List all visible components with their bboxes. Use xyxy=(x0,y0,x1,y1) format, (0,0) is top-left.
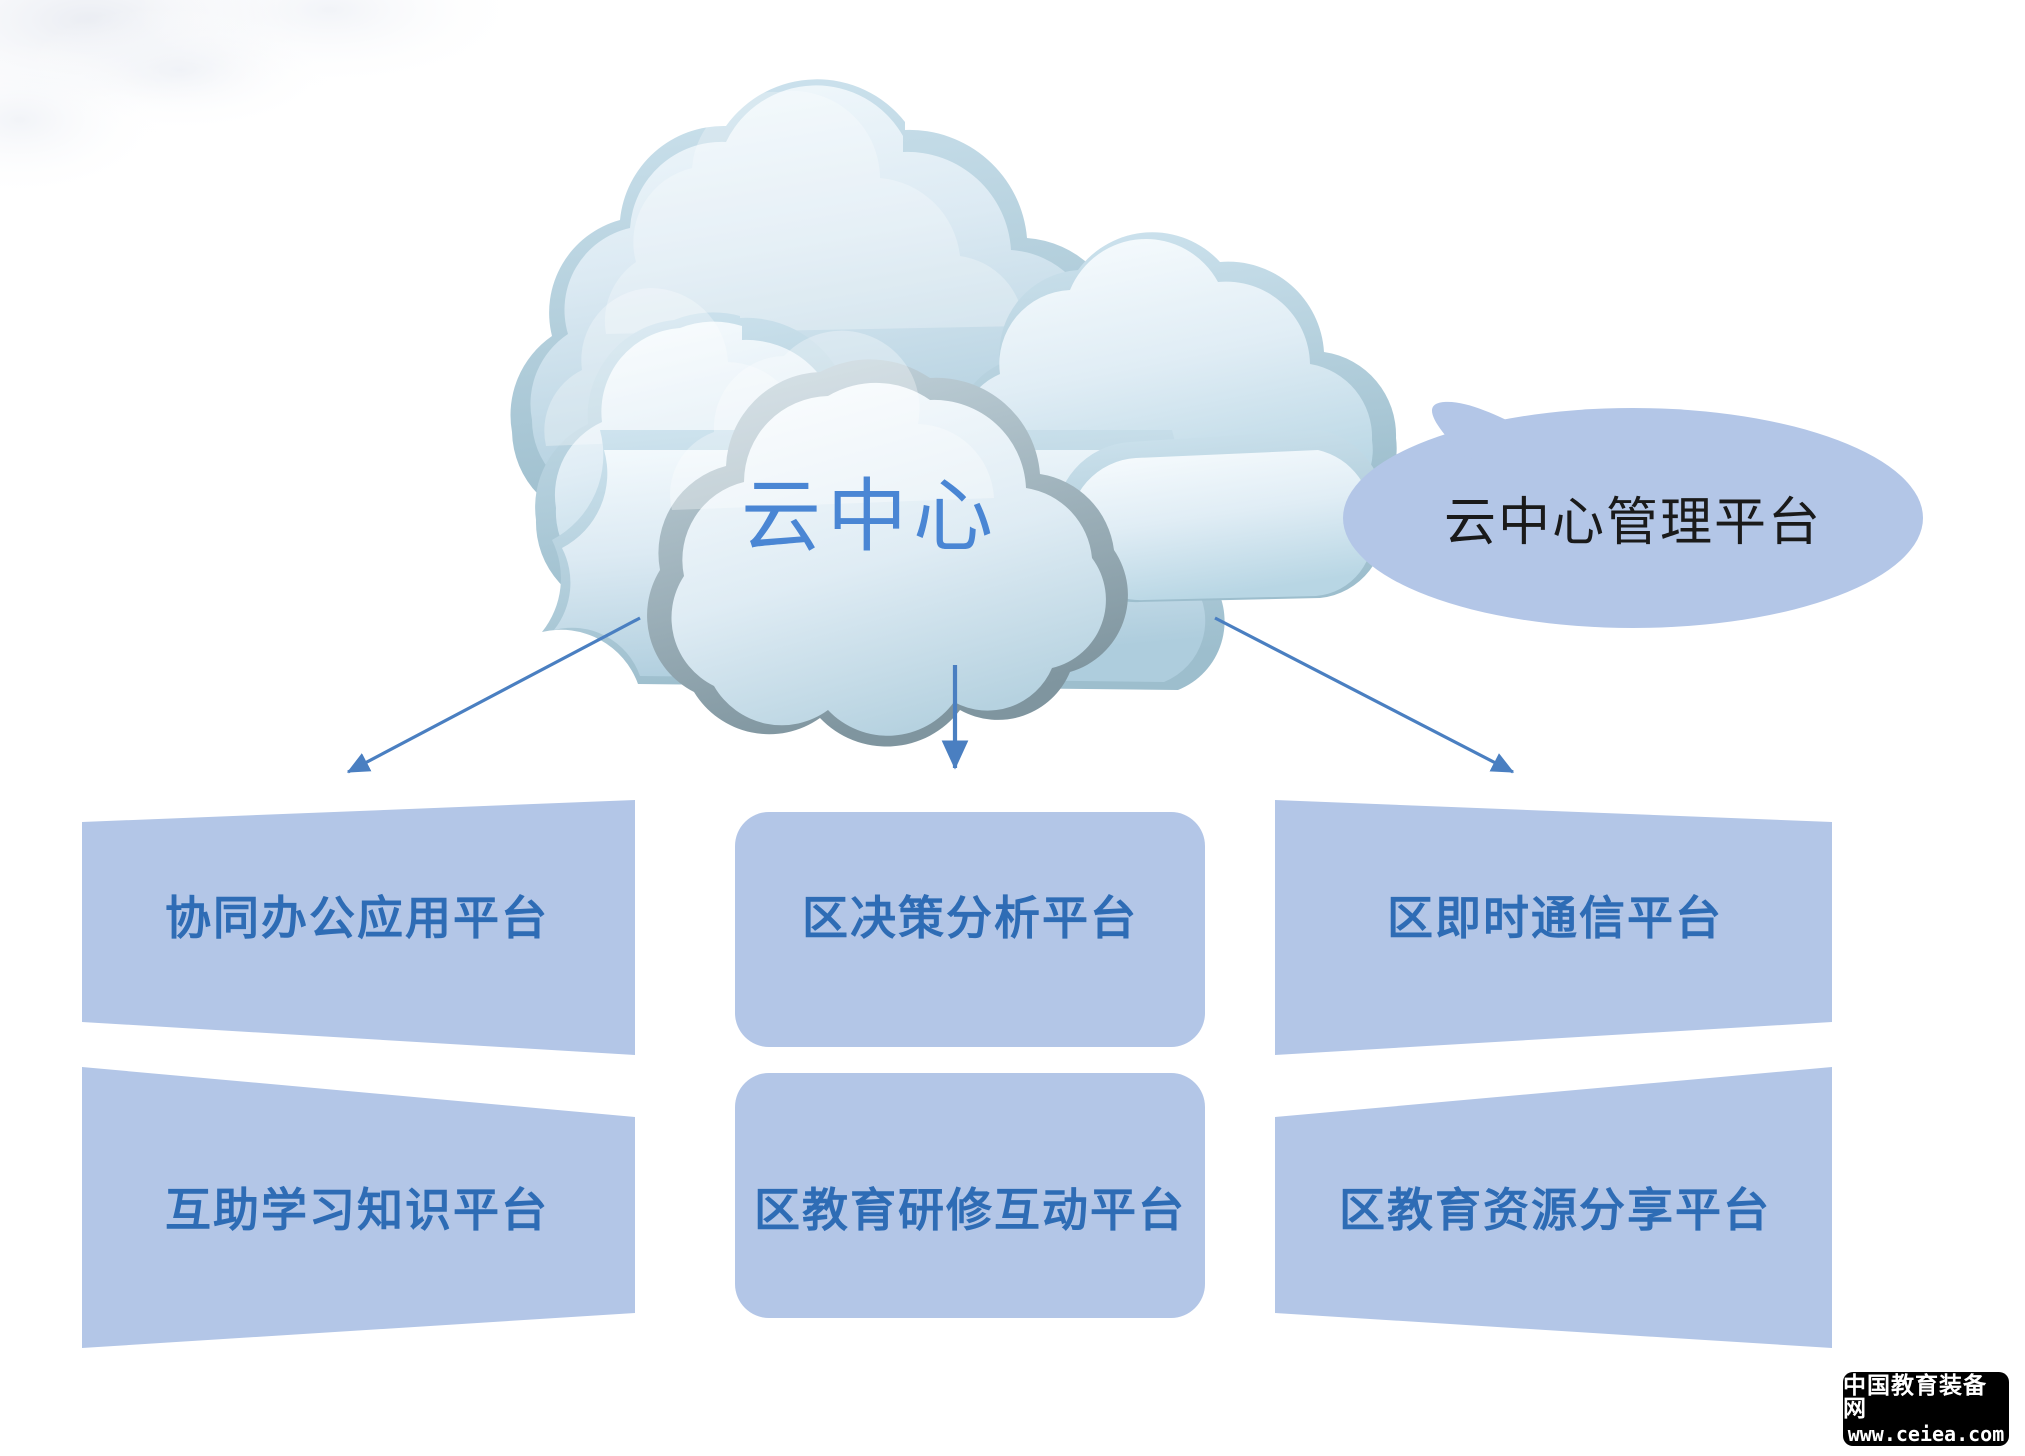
right-column-shapes xyxy=(1275,800,1832,1348)
site-watermark: 中国教育装备网 www.ceiea.com xyxy=(1843,1372,2009,1446)
shape-platform-collaborative-office[interactable] xyxy=(82,800,635,1055)
shape-platform-education-training[interactable] xyxy=(735,1073,1205,1318)
shape-platform-mutual-learning[interactable] xyxy=(82,1067,635,1348)
cloud-cluster-graphic xyxy=(510,79,1396,746)
middle-column-shapes xyxy=(735,812,1205,1318)
left-column-shapes xyxy=(82,800,635,1348)
diagram-canvas: 云中心 云中心管理平台 协同办公应用平台 互助学习知识平台 区决策分析平台 区教… xyxy=(0,0,2025,1456)
watermark-site-url: www.ceiea.com xyxy=(1848,1424,2005,1444)
callout-bubble-graphic[interactable] xyxy=(1343,402,1923,628)
shape-platform-instant-messaging[interactable] xyxy=(1275,800,1832,1055)
arrow-to-left-column xyxy=(348,618,640,772)
diagram-vector-layer xyxy=(0,0,2025,1456)
arrow-to-right-column xyxy=(1215,618,1513,772)
shape-platform-resource-sharing[interactable] xyxy=(1275,1067,1832,1348)
shape-platform-decision-analysis[interactable] xyxy=(735,812,1205,1047)
watermark-site-name: 中国教育装备网 xyxy=(1843,1375,2009,1421)
